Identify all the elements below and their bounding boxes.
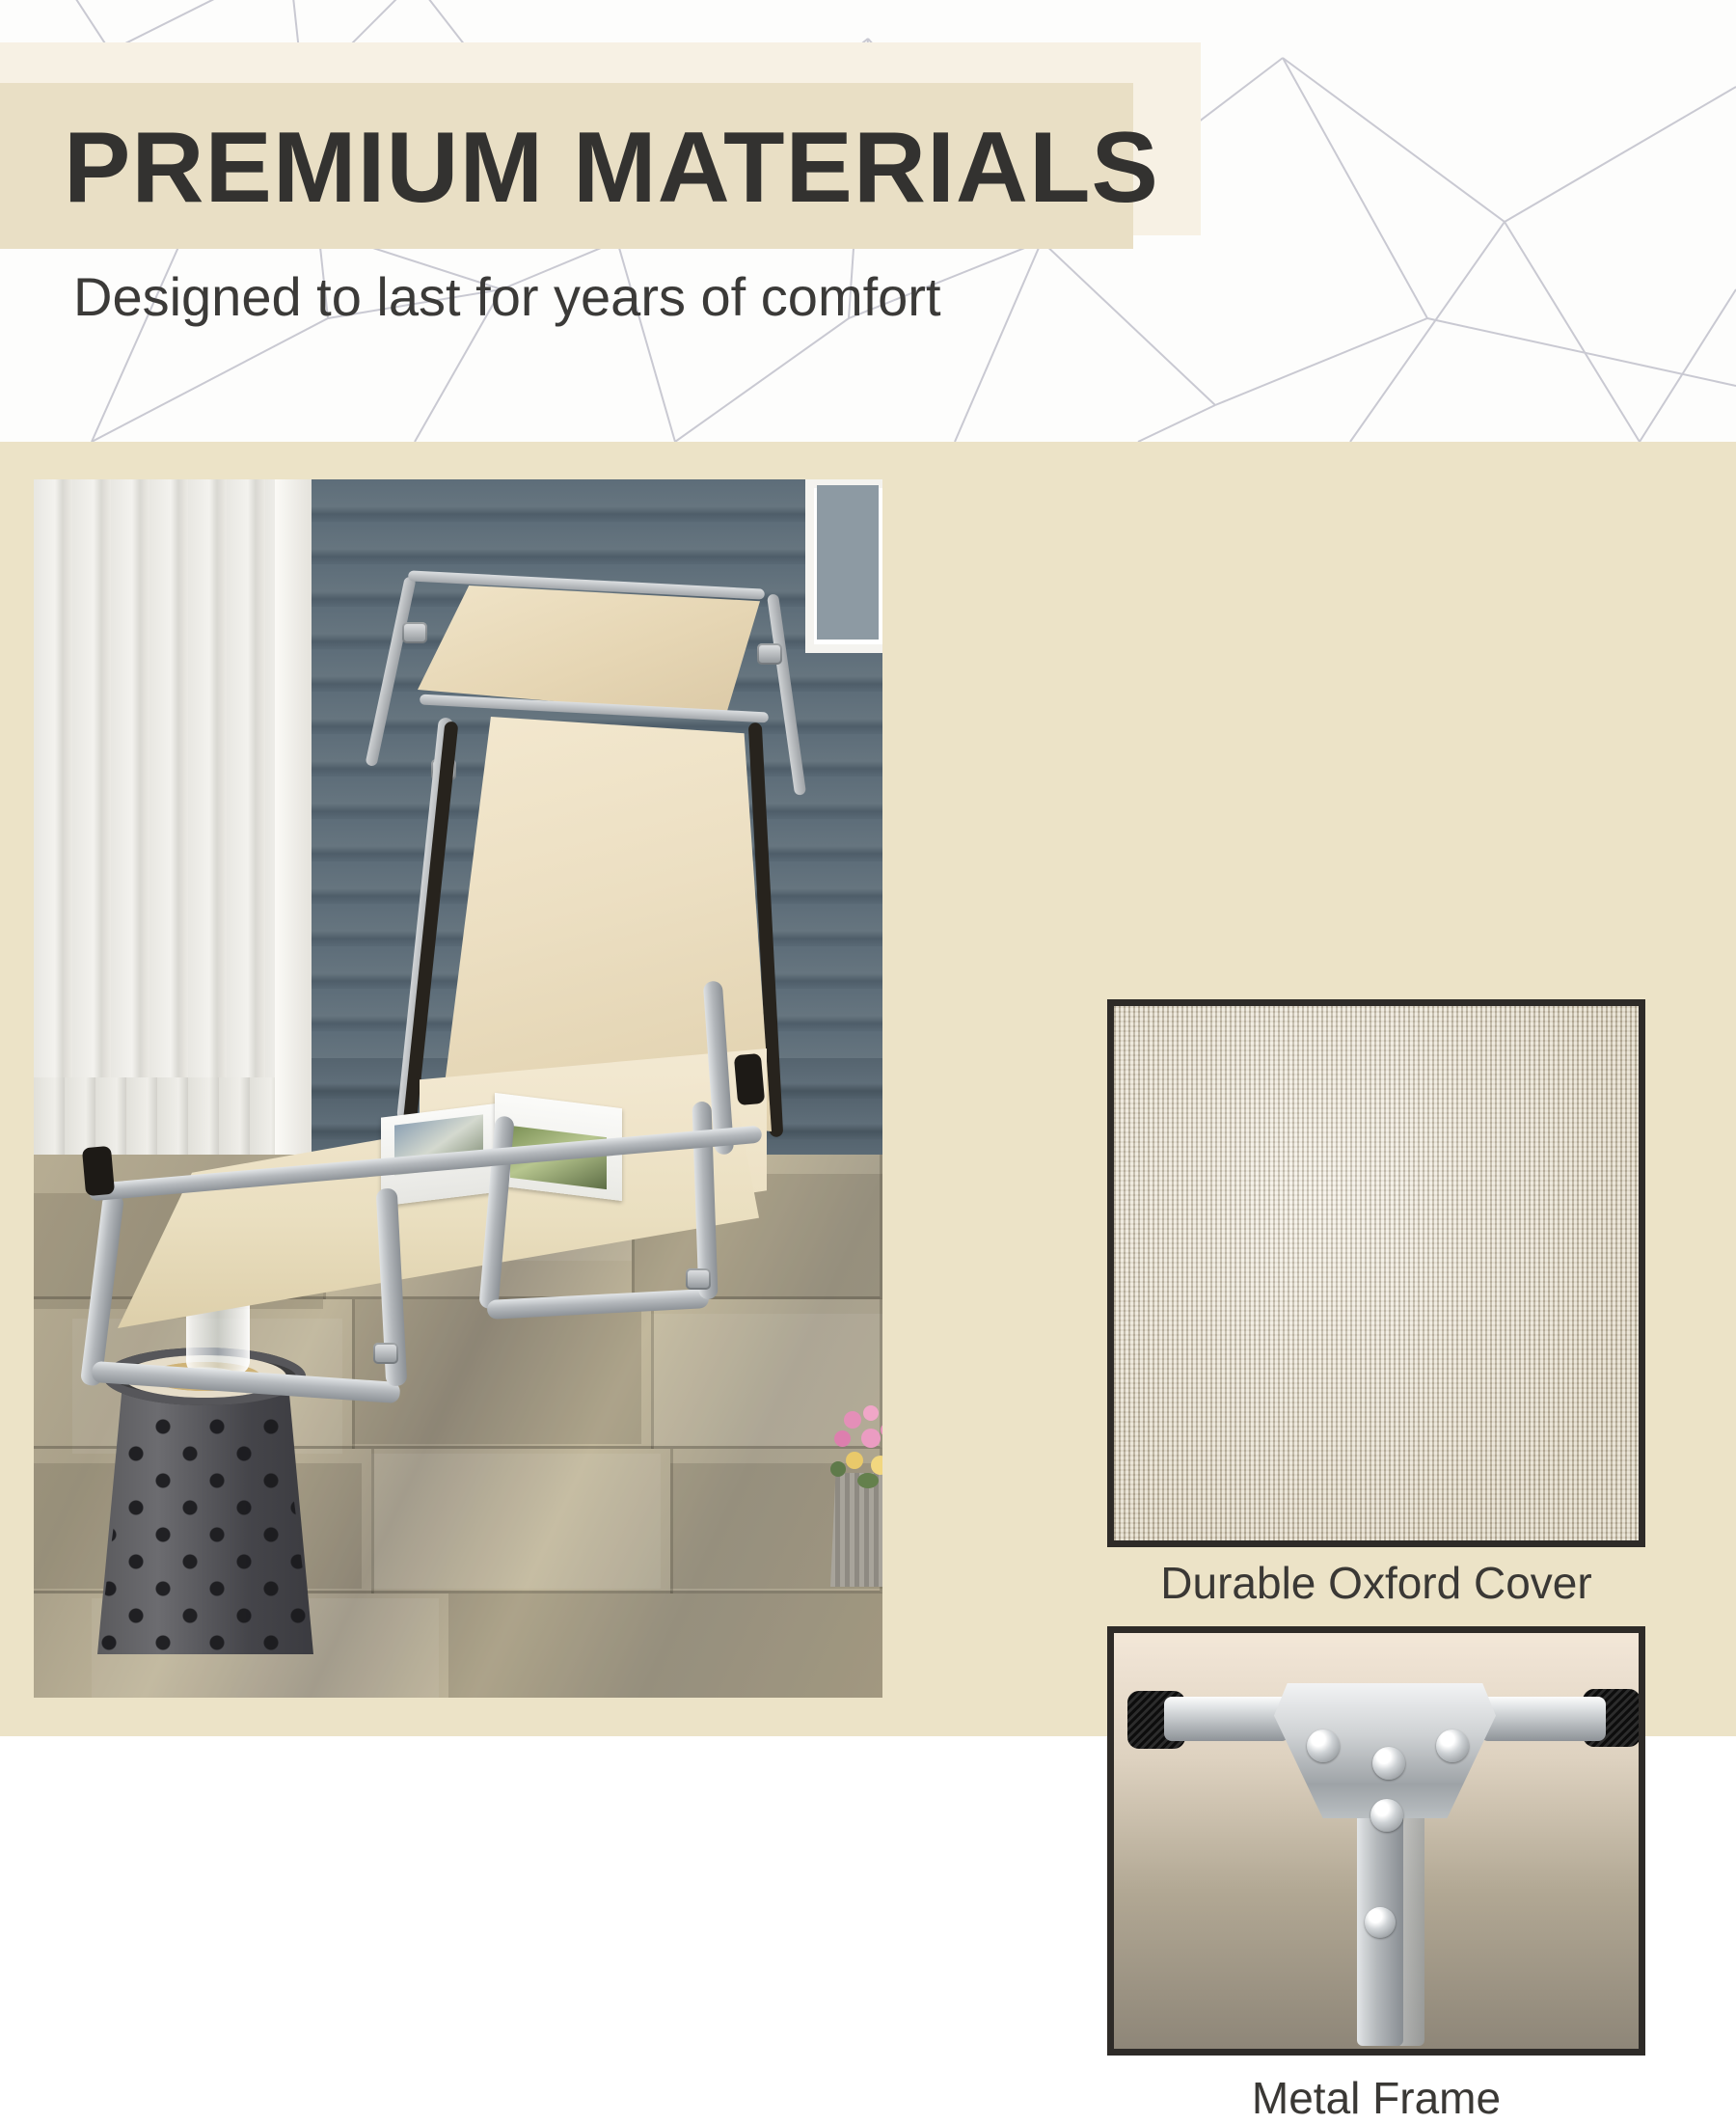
leg-hinge-knob-right (686, 1268, 711, 1290)
header-banner: PREMIUM MATERIALS Designed to last for y… (0, 0, 1736, 442)
metal-frame-caption: Metal Frame (1107, 2072, 1645, 2124)
rivet-right (1436, 1729, 1469, 1762)
metal-frame-detail-card (1107, 1626, 1645, 2056)
rivet-lower (1370, 1799, 1403, 1832)
seat-corner-cap-left (82, 1146, 115, 1196)
leg-hinge-knob-left (373, 1343, 398, 1364)
window-glass (817, 485, 879, 640)
side-table-lattice (97, 1415, 313, 1654)
oxford-cover-caption: Durable Oxford Cover (1107, 1557, 1645, 1609)
crossbar-tube-left (1164, 1697, 1289, 1741)
flower-cluster (825, 1405, 882, 1492)
canopy-pivot-knob-left (402, 622, 427, 643)
oxford-sheen-overlay (1114, 1006, 1639, 1540)
door-trim-post (275, 479, 312, 1155)
page-subtitle: Designed to last for years of comfort (73, 265, 941, 328)
crossbar-tube-right (1480, 1697, 1606, 1741)
page-title: PREMIUM MATERIALS (64, 100, 1125, 235)
rivet-left (1307, 1729, 1340, 1762)
main-product-photo (34, 479, 882, 1698)
white-door-panel (34, 479, 306, 1097)
oxford-cover-swatch-card (1107, 999, 1645, 1547)
rivet-center (1372, 1747, 1405, 1780)
content-stage: Durable Oxford Cover Metal Frame (0, 442, 1736, 1736)
pole-screw (1365, 1907, 1396, 1938)
seat-corner-cap-right (734, 1053, 765, 1105)
canopy-pivot-knob-right (757, 643, 782, 665)
